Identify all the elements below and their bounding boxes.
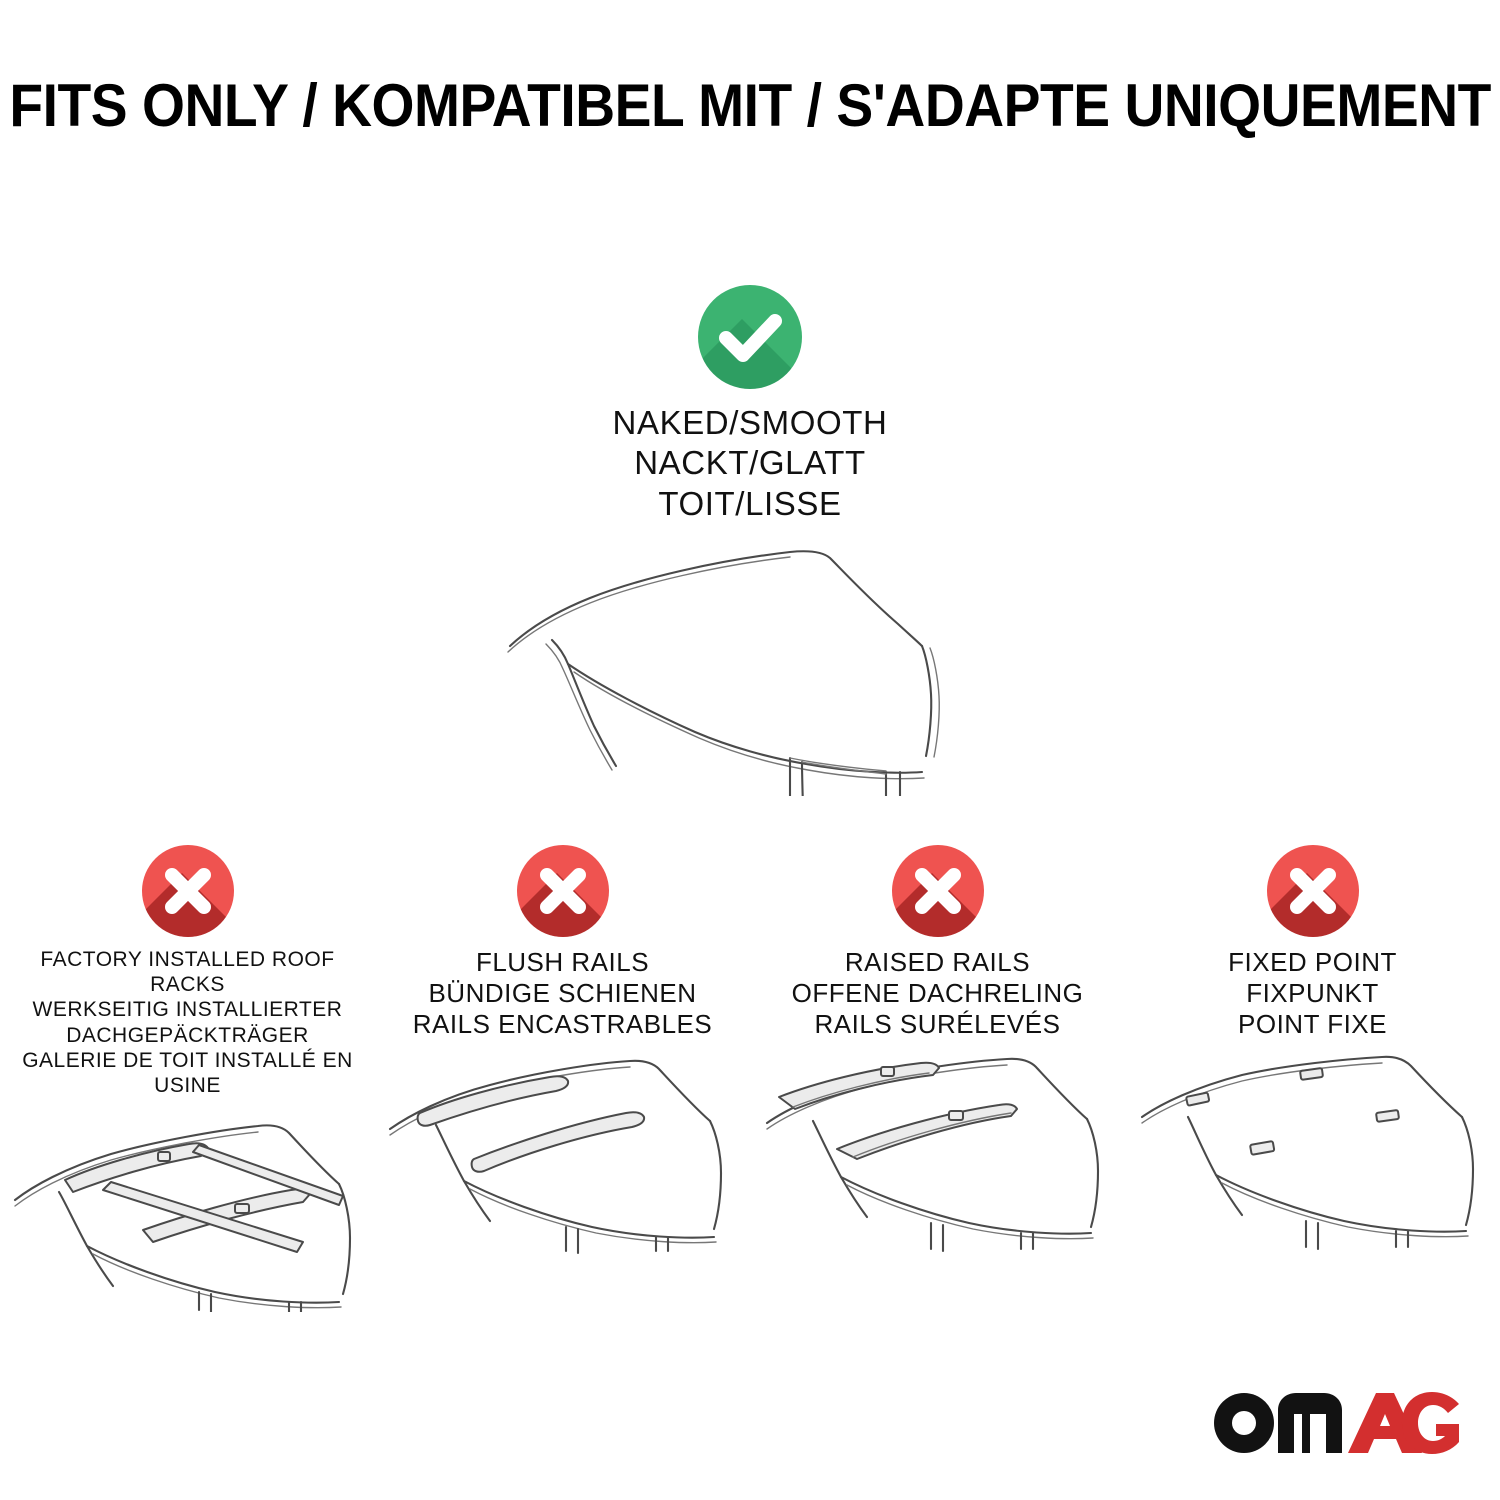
incompatible-cell-raised-rails: RAISED RAILS OFFENE DACHRELING RAILS SUR…: [750, 845, 1125, 1312]
omac-logo: [1212, 1384, 1462, 1462]
x-circle-icon: [1267, 845, 1359, 937]
incompatible-label-fixed-point: FIXED POINT FIXPUNKT POINT FIXE: [1228, 947, 1397, 1041]
label-line-1: FLUSH RAILS: [413, 947, 712, 978]
header: FITS ONLY / KOMPATIBEL MIT / S'ADAPTE UN…: [0, 0, 1500, 210]
roof-with-factory-rack-crossbars-drawing: [3, 1112, 373, 1312]
x-circle-icon: [142, 845, 234, 937]
label-line-4: GALERIE DE TOIT INSTALLÉ EN USINE: [0, 1048, 375, 1098]
label-line-1: RAISED RAILS: [792, 947, 1084, 978]
roof-with-fixed-points-drawing: [1128, 1055, 1498, 1255]
incompatible-label-raised-rails: RAISED RAILS OFFENE DACHRELING RAILS SUR…: [792, 947, 1084, 1041]
label-line-2: BÜNDIGE SCHIENEN: [413, 978, 712, 1009]
label-line-1: FACTORY INSTALLED ROOF RACKS: [0, 947, 375, 997]
check-circle-icon: [698, 285, 802, 389]
label-line-3: RAILS ENCASTRABLES: [413, 1009, 712, 1040]
label-line-3: RAILS SURÉLEVÉS: [792, 1009, 1084, 1040]
label-line-3: DACHGEPÄCKTRÄGER: [0, 1023, 375, 1048]
compatible-label-line-3: TOIT/LISSE: [613, 484, 888, 524]
smooth-car-roof-drawing: [490, 536, 1010, 796]
label-line-2: OFFENE DACHRELING: [792, 978, 1084, 1009]
compatible-roof-label: NAKED/SMOOTH NACKT/GLATT TOIT/LISSE: [613, 403, 888, 524]
incompatible-cell-flush-rails: FLUSH RAILS BÜNDIGE SCHIENEN RAILS ENCAS…: [375, 845, 750, 1312]
compatible-roof-section: NAKED/SMOOTH NACKT/GLATT TOIT/LISSE: [0, 285, 1500, 796]
x-circle-icon: [517, 845, 609, 937]
x-circle-icon: [892, 845, 984, 937]
incompatible-roof-grid: FACTORY INSTALLED ROOF RACKS WERKSEITIG …: [0, 845, 1500, 1312]
page-title: FITS ONLY / KOMPATIBEL MIT / S'ADAPTE UN…: [9, 71, 1491, 140]
incompatible-label-factory-racks: FACTORY INSTALLED ROOF RACKS WERKSEITIG …: [0, 947, 375, 1098]
incompatible-cell-fixed-point: FIXED POINT FIXPUNKT POINT FIXE: [1125, 845, 1500, 1312]
compatible-label-line-2: NACKT/GLATT: [613, 443, 888, 483]
incompatible-label-flush-rails: FLUSH RAILS BÜNDIGE SCHIENEN RAILS ENCAS…: [413, 947, 712, 1041]
incompatible-cell-factory-racks: FACTORY INSTALLED ROOF RACKS WERKSEITIG …: [0, 845, 375, 1312]
roof-with-flush-rails-drawing: [378, 1055, 748, 1255]
compatible-label-line-1: NAKED/SMOOTH: [613, 403, 888, 443]
roof-with-raised-rails-drawing: [753, 1055, 1123, 1255]
label-line-1: FIXED POINT: [1228, 947, 1397, 978]
label-line-2: FIXPUNKT: [1228, 978, 1397, 1009]
label-line-3: POINT FIXE: [1228, 1009, 1397, 1040]
label-line-2: WERKSEITIG INSTALLIERTER: [0, 997, 375, 1022]
